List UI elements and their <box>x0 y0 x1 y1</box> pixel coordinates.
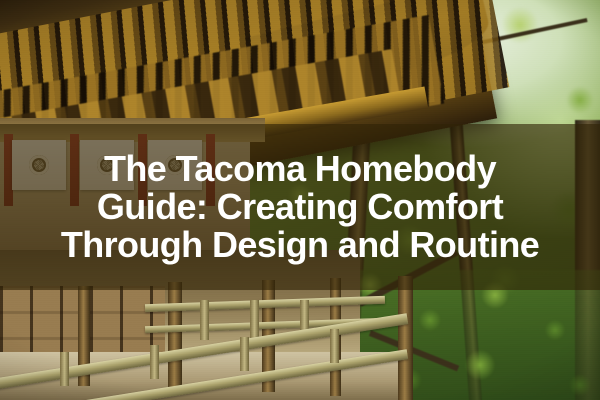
hero-banner: The Tacoma Homebody Guide: Creating Comf… <box>0 0 600 400</box>
title-line-3: Through Design and Routine <box>61 226 539 264</box>
title-line-1: The Tacoma Homebody <box>61 150 539 188</box>
page-title: The Tacoma Homebody Guide: Creating Comf… <box>61 150 539 264</box>
title-container: The Tacoma Homebody Guide: Creating Comf… <box>0 124 600 290</box>
title-line-2: Guide: Creating Comfort <box>61 188 539 226</box>
